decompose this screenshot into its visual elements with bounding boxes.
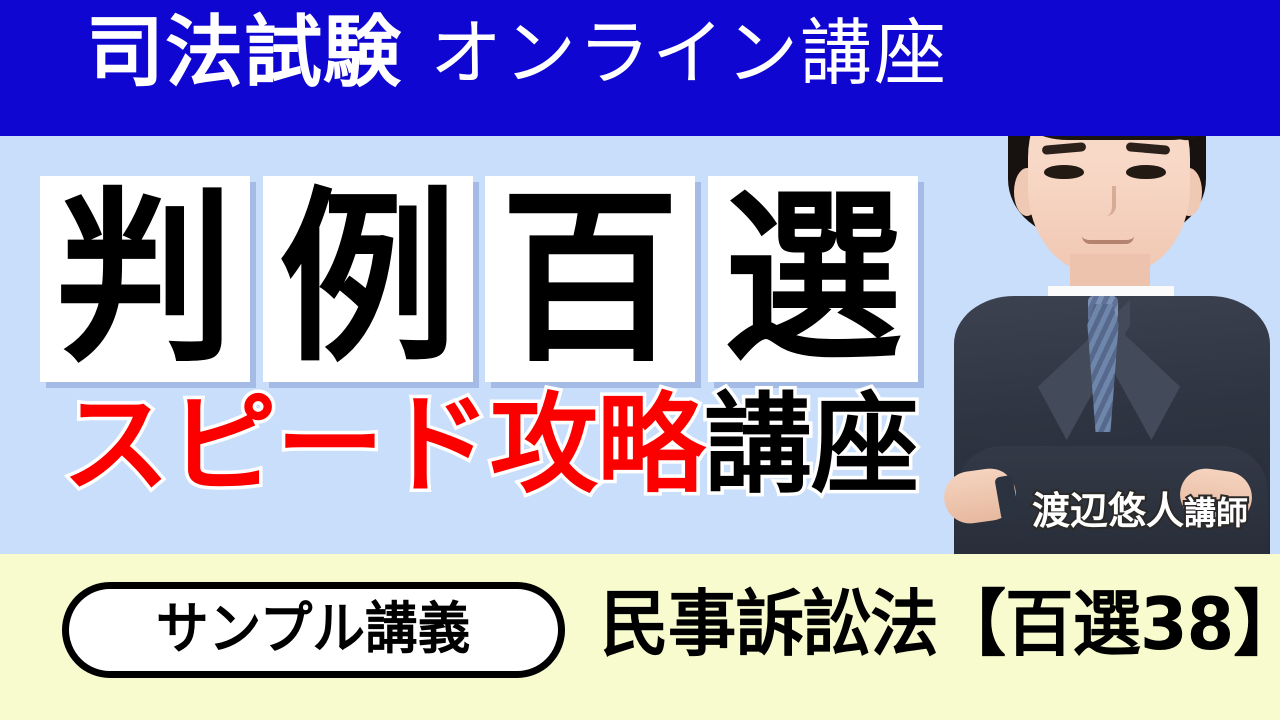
instructor-caption: 渡辺悠人講師	[1032, 480, 1248, 535]
video-thumbnail: 司法試験オンライン講座 判 例 百 選 スピード攻略講座 渡辺悠人講師 サンプル…	[0, 0, 1280, 720]
banner-light-text: オンライン講座	[430, 11, 948, 95]
headline-red-text: スピード攻略	[62, 383, 704, 508]
headline-black-text: 講座	[704, 383, 918, 508]
banner-strong-text: 司法試験	[86, 8, 402, 98]
kanji-char-1: 判	[56, 192, 235, 367]
sample-lecture-badge: サンプル講義	[62, 582, 565, 678]
headline-kanji-row: 判 例 百 選	[40, 176, 918, 382]
kanji-box-2: 例	[263, 176, 473, 382]
kanji-box-1: 判	[40, 176, 250, 382]
eye-right-shape	[1126, 165, 1166, 179]
kanji-box-3: 百	[485, 176, 695, 382]
kanji-char-3: 百	[501, 192, 680, 367]
mouth-shape	[1082, 236, 1134, 244]
eye-left-shape	[1044, 165, 1084, 179]
kanji-box-4: 選	[708, 176, 918, 382]
kanji-char-2: 例	[278, 192, 457, 367]
top-banner-title: 司法試験オンライン講座	[86, 14, 948, 92]
instructor-name: 渡辺悠人	[1032, 489, 1184, 533]
nose-shape	[1098, 186, 1116, 216]
subject-title: 民事訴訟法【百選38】	[582, 588, 1280, 660]
headline-second-line: スピード攻略講座	[62, 392, 918, 500]
subject-title-text: 民事訴訟法【百選38】	[600, 588, 1280, 660]
sample-lecture-label: サンプル講義	[156, 602, 470, 658]
instructor-title: 講師	[1184, 494, 1248, 532]
kanji-char-4: 選	[724, 192, 903, 367]
